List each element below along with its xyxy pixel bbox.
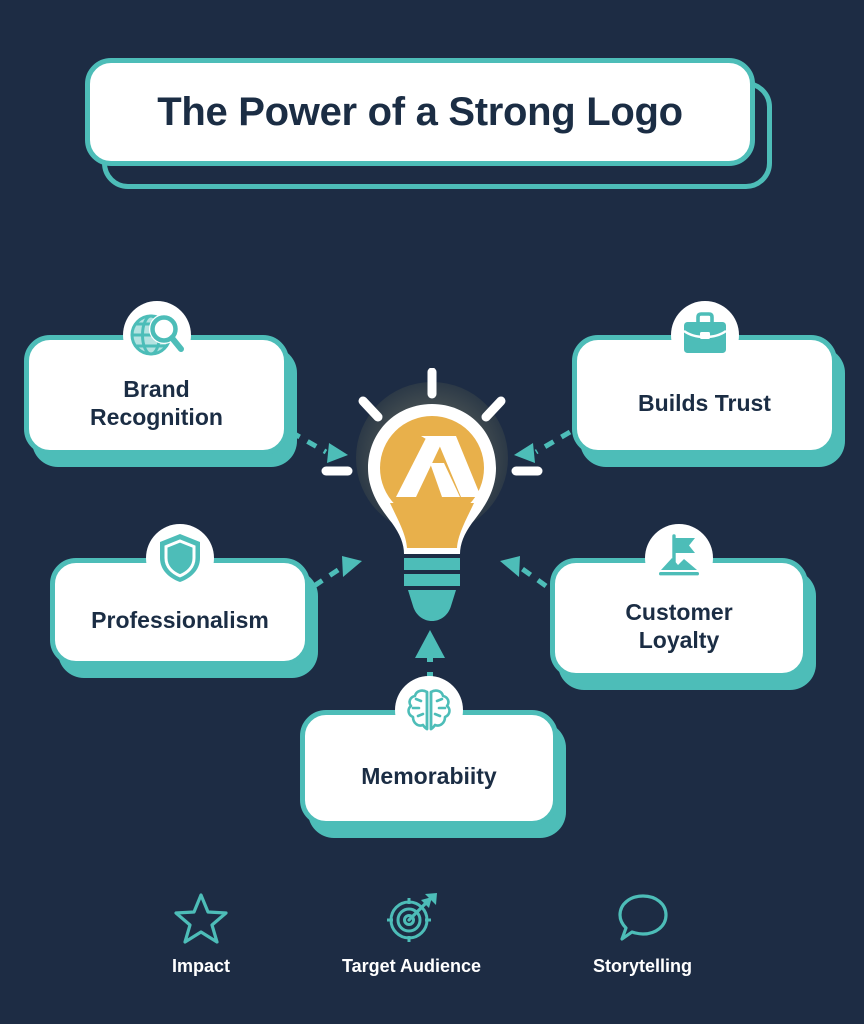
- card-label: Builds Trust: [624, 390, 785, 418]
- card-label: Memorabiity: [347, 763, 510, 791]
- infographic-canvas: The Power of a Strong Logo: [0, 0, 864, 1024]
- title-block: The Power of a Strong Logo: [85, 58, 755, 166]
- briefcase-icon: [679, 311, 731, 359]
- globe-search-icon: [129, 309, 185, 361]
- card-customer-loyalty[interactable]: Customer Loyalty: [550, 558, 808, 678]
- bottom-item-label: Storytelling: [593, 956, 692, 977]
- badge-brand-recognition: [123, 301, 191, 369]
- flag-hill-icon: [653, 532, 705, 584]
- target-arrow-icon: [385, 892, 439, 944]
- center-lightbulb: [320, 368, 544, 638]
- badge-customer-loyalty: [645, 524, 713, 592]
- bottom-item-label: Impact: [172, 956, 230, 977]
- page-title: The Power of a Strong Logo: [157, 90, 683, 135]
- card-memorability[interactable]: Memorabiity: [300, 710, 558, 826]
- card-label: Professionalism: [77, 607, 283, 635]
- lightbulb-icon: [320, 368, 544, 638]
- bulb-base: [404, 558, 460, 621]
- bottom-item-label: Target Audience: [342, 956, 481, 977]
- shield-icon: [158, 532, 202, 584]
- speech-bubble-icon: [616, 892, 670, 944]
- bottom-item-storytelling[interactable]: Storytelling: [593, 892, 692, 977]
- brain-icon: [404, 686, 454, 734]
- badge-memorability: [395, 676, 463, 744]
- star-outline-icon: [174, 892, 228, 944]
- badge-builds-trust: [671, 301, 739, 369]
- card-label: Brand Recognition: [76, 376, 237, 431]
- bottom-icon-row: Impact Target Audience: [0, 892, 864, 977]
- title-card: The Power of a Strong Logo: [85, 58, 755, 166]
- bottom-item-impact[interactable]: Impact: [172, 892, 230, 977]
- bottom-item-target-audience[interactable]: Target Audience: [342, 892, 481, 977]
- card-builds-trust[interactable]: Builds Trust: [572, 335, 837, 455]
- badge-professionalism: [146, 524, 214, 592]
- card-label: Customer Loyalty: [611, 599, 746, 654]
- card-professionalism[interactable]: Professionalism: [50, 558, 310, 666]
- card-brand-recognition[interactable]: Brand Recognition: [24, 335, 289, 455]
